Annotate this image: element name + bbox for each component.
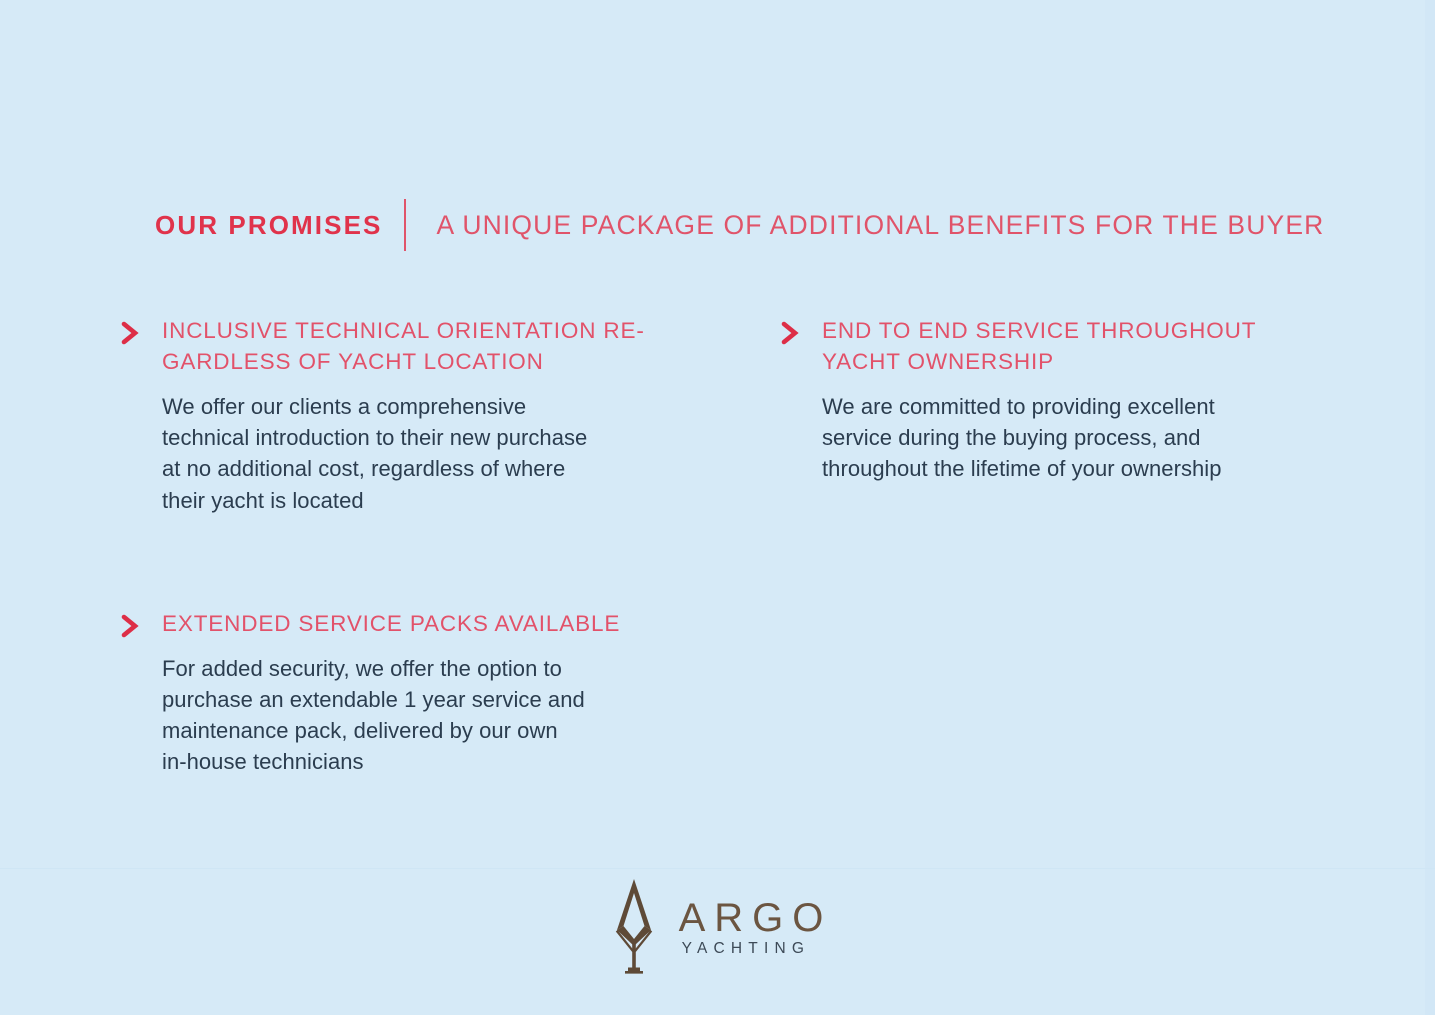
page-title: A UNIQUE PACKAGE OF ADDITIONAL BENEFITS … bbox=[436, 212, 1324, 239]
footer: ARGO YACHTING bbox=[0, 876, 1435, 976]
promise-title: INCLUSIVE TECHNICAL ORIENTATION RE- GARD… bbox=[162, 315, 682, 377]
promise-item: INCLUSIVE TECHNICAL ORIENTATION RE- GARD… bbox=[118, 315, 778, 516]
section-header: OUR PROMISES A UNIQUE PACKAGE OF ADDITIO… bbox=[155, 200, 1324, 250]
promises-column-right-2 bbox=[778, 608, 1318, 778]
promises-grid: INCLUSIVE TECHNICAL ORIENTATION RE- GARD… bbox=[118, 315, 1318, 778]
promises-column-right: END TO END SERVICE THROUGHOUT YACHT OWNE… bbox=[778, 315, 1318, 516]
brand-logo: ARGO YACHTING bbox=[603, 876, 833, 976]
promises-row-2: EXTENDED SERVICE PACKS AVAILABLE For add… bbox=[118, 608, 1318, 778]
promise-item: EXTENDED SERVICE PACKS AVAILABLE For add… bbox=[118, 608, 778, 778]
section-eyebrow: OUR PROMISES bbox=[155, 212, 382, 238]
chevron-right-icon bbox=[118, 320, 144, 346]
promise-item: END TO END SERVICE THROUGHOUT YACHT OWNE… bbox=[778, 315, 1318, 485]
right-edge-shade bbox=[1425, 0, 1435, 1015]
footer-hairline-divider bbox=[0, 868, 1435, 869]
brand-name-primary: ARGO bbox=[679, 897, 833, 939]
argo-yachting-logo-mark bbox=[603, 876, 665, 976]
grid-row-gap bbox=[118, 516, 1318, 608]
promise-title: EXTENDED SERVICE PACKS AVAILABLE bbox=[162, 608, 682, 639]
promises-column-left: INCLUSIVE TECHNICAL ORIENTATION RE- GARD… bbox=[118, 315, 778, 516]
slide-canvas: OUR PROMISES A UNIQUE PACKAGE OF ADDITIO… bbox=[0, 0, 1435, 1015]
brand-name-secondary: YACHTING bbox=[679, 939, 833, 959]
promise-body: We offer our clients a comprehensive tec… bbox=[162, 391, 662, 516]
promise-title: END TO END SERVICE THROUGHOUT YACHT OWNE… bbox=[822, 315, 1318, 377]
promise-body: We are committed to providing excellent … bbox=[822, 391, 1292, 485]
promises-column-left-2: EXTENDED SERVICE PACKS AVAILABLE For add… bbox=[118, 608, 778, 778]
chevron-right-icon bbox=[778, 320, 804, 346]
brand-wordmark: ARGO YACHTING bbox=[679, 893, 833, 959]
promise-body: For added security, we offer the option … bbox=[162, 653, 662, 778]
promises-row-1: INCLUSIVE TECHNICAL ORIENTATION RE- GARD… bbox=[118, 315, 1318, 516]
chevron-right-icon bbox=[118, 613, 144, 639]
header-divider bbox=[404, 199, 406, 251]
